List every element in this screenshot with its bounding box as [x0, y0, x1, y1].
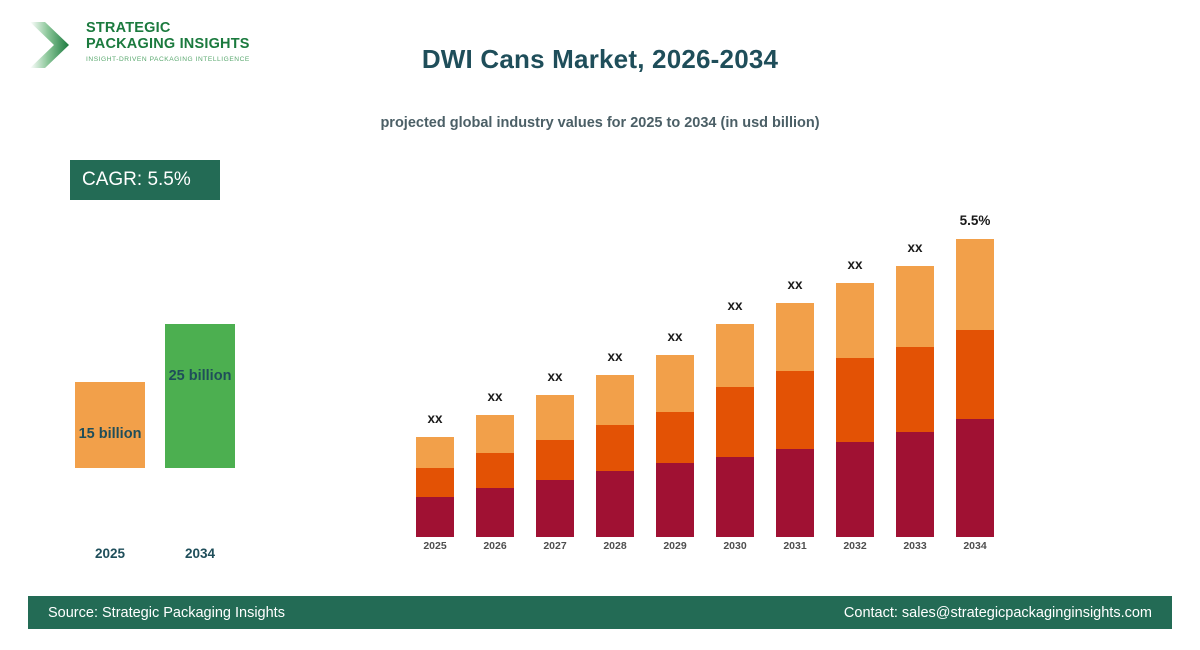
stacked-bar-2029: [656, 355, 694, 537]
stacked-top-label-2033: xx: [880, 240, 950, 255]
stacked-bar-2034: [956, 239, 994, 537]
stacked-bar-2033: [896, 266, 934, 537]
comparison-value-label-2025: 15 billion: [35, 426, 185, 442]
stacked-bar-2027: [536, 395, 574, 537]
stack-segment-segment-1-2025: [416, 497, 454, 537]
comparison-value-label-2034: 25 billion: [125, 368, 275, 384]
stack-segment-segment-3-2029: [656, 355, 694, 412]
stacked-top-label-2031: xx: [760, 277, 830, 292]
stack-segment-segment-2-2026: [476, 453, 514, 488]
stacked-top-label-2032: xx: [820, 257, 890, 272]
stack-segment-segment-1-2029: [656, 463, 694, 537]
stack-segment-segment-2-2025: [416, 468, 454, 497]
stacked-bar-2028: [596, 375, 634, 537]
stacked-bar-2026: [476, 415, 514, 537]
stack-segment-segment-3-2026: [476, 415, 514, 453]
stack-segment-segment-1-2026: [476, 488, 514, 537]
stack-segment-segment-3-2033: [896, 266, 934, 347]
stacked-top-label-2030: xx: [700, 298, 770, 313]
stack-segment-segment-2-2030: [716, 387, 754, 457]
stack-segment-segment-2-2031: [776, 371, 814, 449]
stacked-top-label-2029: xx: [640, 329, 710, 344]
stacked-bar-2032: [836, 283, 874, 537]
footer-source: Source: Strategic Packaging Insights: [48, 605, 285, 621]
endpoint-comparison-chart: 15 billion202525 billion2034: [0, 0, 340, 580]
stacked-bar-2025: [416, 437, 454, 537]
stack-segment-segment-1-2030: [716, 457, 754, 537]
comparison-year-label-2034: 2034: [140, 546, 260, 561]
stack-segment-segment-2-2027: [536, 440, 574, 480]
comparison-bar-2025: [75, 382, 145, 468]
comparison-bar-2034: [165, 324, 235, 468]
stack-segment-segment-1-2028: [596, 471, 634, 537]
stack-segment-segment-3-2032: [836, 283, 874, 358]
stack-segment-segment-3-2025: [416, 437, 454, 468]
stacked-top-label-2034: 5.5%: [940, 213, 1010, 228]
stack-segment-segment-2-2033: [896, 347, 934, 432]
stacked-bar-2030: [716, 324, 754, 537]
stack-segment-segment-2-2032: [836, 358, 874, 442]
stack-segment-segment-1-2033: [896, 432, 934, 537]
stack-segment-segment-3-2034: [956, 239, 994, 330]
stack-segment-segment-1-2031: [776, 449, 814, 537]
footer-contact: Contact: sales@strategicpackaginginsight…: [844, 605, 1152, 621]
stack-segment-segment-3-2028: [596, 375, 634, 425]
stack-segment-segment-3-2031: [776, 303, 814, 371]
stacked-top-label-2026: xx: [460, 389, 530, 404]
stack-segment-segment-2-2034: [956, 330, 994, 419]
footer-bar: Source: Strategic Packaging Insights Con…: [28, 596, 1172, 629]
stack-segment-segment-3-2030: [716, 324, 754, 387]
stacked-top-label-2028: xx: [580, 349, 650, 364]
stacked-forecast-chart: xx2025xx2026xx2027xx2028xx2029xx2030xx20…: [405, 0, 1025, 580]
stacked-bar-2031: [776, 303, 814, 537]
stack-segment-segment-2-2028: [596, 425, 634, 471]
stacked-top-label-2025: xx: [400, 411, 470, 426]
stacked-year-label-2034: 2034: [940, 540, 1010, 552]
stack-segment-segment-1-2027: [536, 480, 574, 537]
stack-segment-segment-3-2027: [536, 395, 574, 440]
stack-segment-segment-2-2029: [656, 412, 694, 463]
stacked-top-label-2027: xx: [520, 369, 590, 384]
stack-segment-segment-1-2032: [836, 442, 874, 537]
stack-segment-segment-1-2034: [956, 419, 994, 537]
